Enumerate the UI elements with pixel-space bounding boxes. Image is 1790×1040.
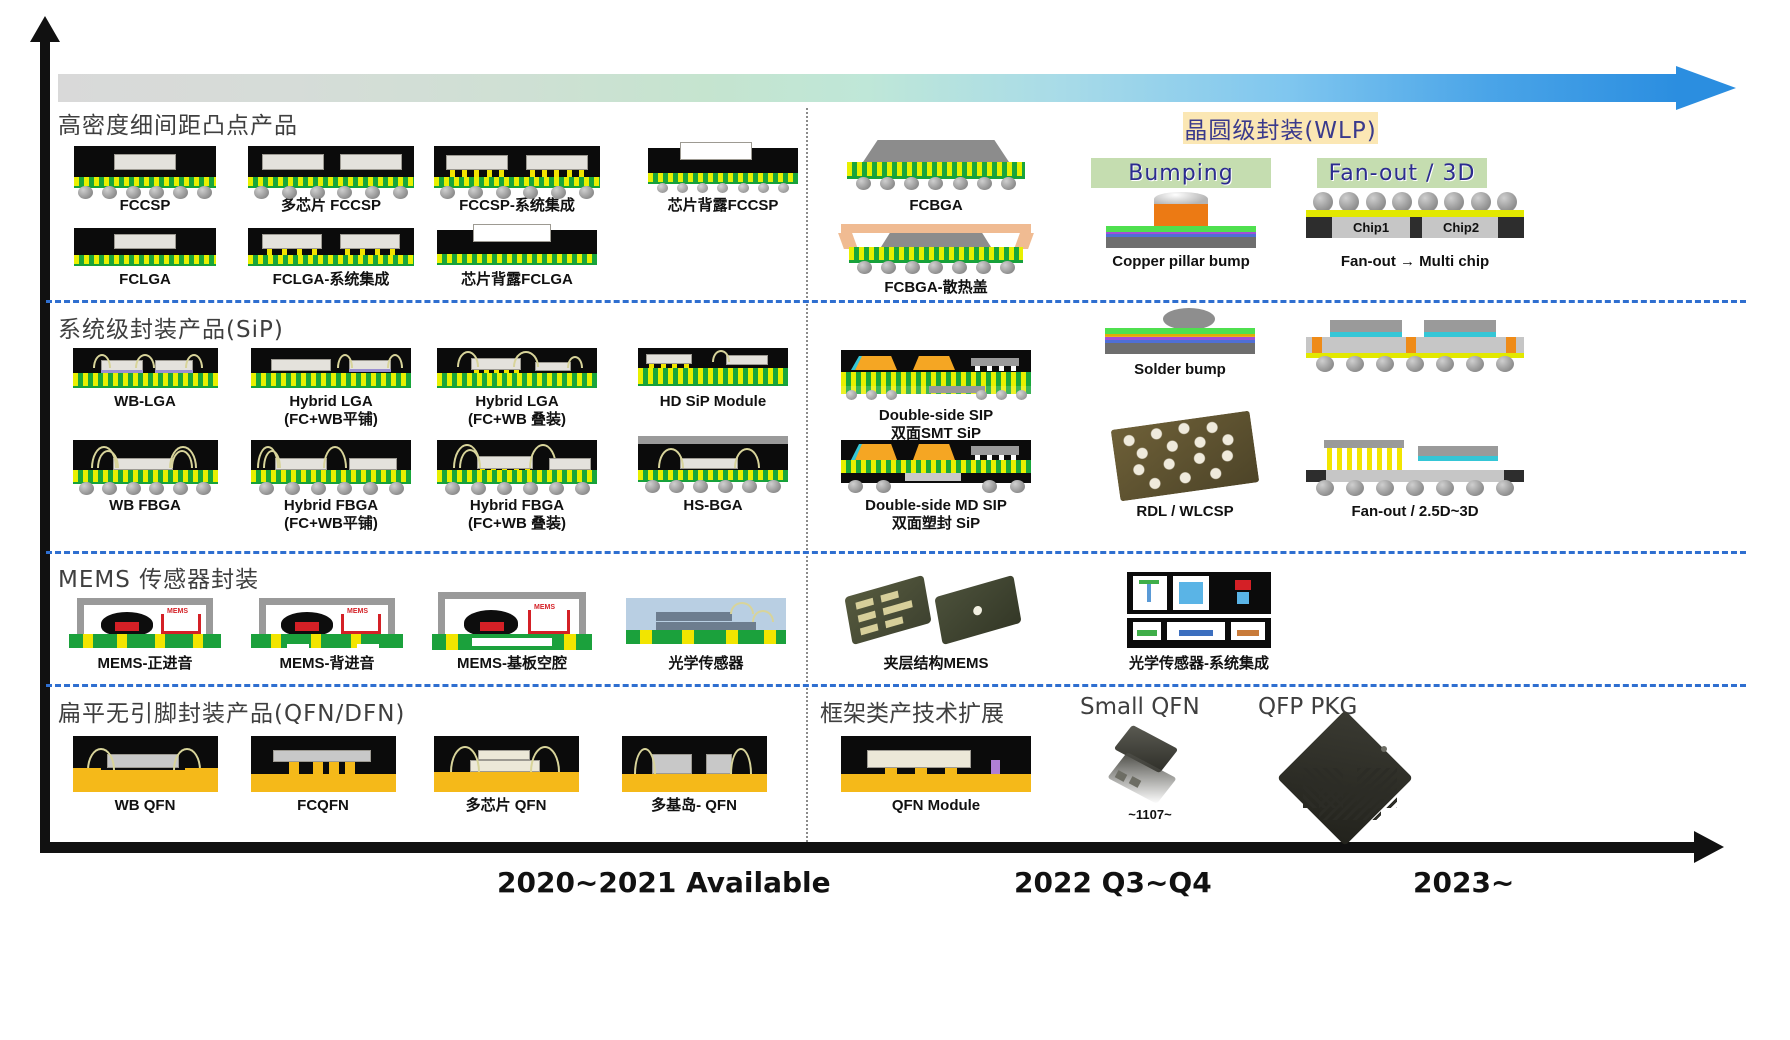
timeline-label-2020-2021: 2020~2021 Available xyxy=(497,866,831,899)
row-separator-1 xyxy=(46,300,1746,303)
item-label: 光学传感器 xyxy=(616,655,796,673)
item-label: FCCSP-系统集成 xyxy=(424,197,610,215)
item-label: WB FBGA xyxy=(60,497,230,515)
item-qfp-pkg xyxy=(1248,724,1448,825)
item-hs-bga: HS-BGA xyxy=(628,436,798,515)
timeline-label-2022: 2022 Q3~Q4 xyxy=(1014,866,1212,899)
item-label: 多芯片 QFN xyxy=(416,797,596,815)
item-optical-sensor-system-integration: 光学传感器-系统集成 xyxy=(1104,572,1294,673)
row-separator-3 xyxy=(46,684,1746,687)
heading-frame-tech: 框架类产技术扩展 xyxy=(820,694,1004,728)
section-title-high-density: 高密度细间距凸点产品 xyxy=(58,106,298,140)
item-label: HS-BGA xyxy=(628,497,798,515)
item-label: MEMS-基板空腔 xyxy=(422,655,602,673)
item-exposed-die-fclga: 芯片背露FCLGA xyxy=(424,224,610,289)
item-label: MEMS-背进音 xyxy=(240,655,414,673)
item-fclga-system-integration: FCLGA-系统集成 xyxy=(238,228,424,289)
phase-divider xyxy=(806,108,808,842)
right-arrow-icon xyxy=(1694,831,1724,863)
item-fanout-25d-3d-upper xyxy=(1300,320,1530,374)
item-fanout-multichip: Chip1 Chip2 Fan-out → Multi chip xyxy=(1300,192,1530,271)
item-label: Solder bump xyxy=(1090,361,1270,379)
chip2-label: Chip2 xyxy=(1426,220,1496,235)
chip1-label: Chip1 xyxy=(1336,220,1406,235)
item-label: FCCSP xyxy=(60,197,230,215)
item-solder-bump: Solder bump xyxy=(1090,308,1270,379)
item-label: 光学传感器-系统集成 xyxy=(1104,655,1294,673)
timeline-label-2023: 2023~ xyxy=(1413,866,1514,899)
item-label: Fan-out / 2.5D~3D xyxy=(1300,503,1530,521)
item-double-side-md-sip: Double-side MD SIP 双面塑封 SiP xyxy=(838,440,1034,533)
item-exposed-die-fccsp: 芯片背露FCCSP xyxy=(628,142,818,215)
item-fcbga-heat-spreader: FCBGA-散热盖 xyxy=(838,224,1034,297)
item-rdl-wlcsp: RDL / WLCSP xyxy=(1090,418,1280,521)
item-fclga: FCLGA xyxy=(60,228,230,289)
item-optical-sensor: 光学传感器 xyxy=(616,598,796,673)
item-fccsp: FCCSP xyxy=(60,146,230,215)
item-fccsp-system-integration: FCCSP-系统集成 xyxy=(424,146,610,215)
item-fcbga: FCBGA xyxy=(838,140,1034,215)
banner-bumping: Bumping xyxy=(1091,158,1271,188)
item-label: FCBGA-散热盖 xyxy=(838,279,1034,297)
heading-small-qfn: Small QFN xyxy=(1080,694,1200,720)
item-small-qfn: ~1107~ xyxy=(1080,732,1220,823)
item-label: MEMS-正进音 xyxy=(58,655,232,673)
item-label: 多基岛- QFN xyxy=(604,797,784,815)
section-title-qfn: 扁平无引脚封装产品(QFN/DFN) xyxy=(58,694,405,728)
item-label: 芯片背露FCCSP xyxy=(628,197,818,215)
item-label: WB QFN xyxy=(60,797,230,815)
mems-photo-top xyxy=(844,575,931,645)
item-hybrid-lga-stacked: Hybrid LGA (FC+WB 叠装) xyxy=(424,348,610,429)
item-label: Hybrid LGA (FC+WB 叠装) xyxy=(424,393,610,429)
item-sandwich-mems: 夹层结构MEMS xyxy=(838,578,1034,673)
row-separator-2 xyxy=(46,551,1746,554)
item-multichip-fccsp: 多芯片 FCCSP xyxy=(238,146,424,215)
item-label: Copper pillar bump xyxy=(1086,253,1276,271)
item-double-side-sip: Double-side SIP 双面SMT SiP xyxy=(838,350,1034,443)
item-label: 芯片背露FCLGA xyxy=(424,271,610,289)
banner-wlp: 晶圆级封装(WLP) xyxy=(1183,112,1378,144)
item-hybrid-fbga-planar: Hybrid FBGA (FC+WB平铺) xyxy=(238,440,424,533)
item-label: Hybrid LGA (FC+WB平铺) xyxy=(238,393,424,429)
section-title-sip: 系统级封装产品(SiP) xyxy=(58,310,284,344)
banner-fanout: Fan-out / 3D xyxy=(1317,158,1487,188)
item-multichip-qfn: 多芯片 QFN xyxy=(416,736,596,815)
item-mems-back-port: MEMS MEMS-背进音 xyxy=(240,598,414,673)
item-fanout-25d-3d: Fan-out / 2.5D~3D xyxy=(1300,440,1530,521)
roadmap-diagram: 高密度细间距凸点产品 FCCSP xyxy=(0,0,1790,1040)
item-hd-sip-module: HD SiP Module xyxy=(628,348,798,411)
bga-photo xyxy=(1111,411,1260,502)
item-label: HD SiP Module xyxy=(628,393,798,411)
item-label: 多芯片 FCCSP xyxy=(238,197,424,215)
item-label: FCLGA-系统集成 xyxy=(238,271,424,289)
mems-photo-bottom xyxy=(934,575,1021,645)
item-label: Fan-out → Multi chip xyxy=(1300,253,1530,271)
item-fcqfn: FCQFN xyxy=(238,736,408,815)
x-axis xyxy=(40,842,1700,853)
item-wb-fbga: WB FBGA xyxy=(60,440,230,515)
item-hybrid-fbga-stacked: Hybrid FBGA (FC+WB 叠装) xyxy=(424,440,610,533)
item-mems-front-port: MEMS MEMS-正进音 xyxy=(58,598,232,673)
item-label: FCBGA xyxy=(838,197,1034,215)
item-hybrid-lga-planar: Hybrid LGA (FC+WB平铺) xyxy=(238,348,424,429)
item-label: FCQFN xyxy=(238,797,408,815)
item-label: QFN Module xyxy=(838,797,1034,815)
item-label: Double-side MD SIP 双面塑封 SiP xyxy=(838,497,1034,533)
item-copper-pillar-bump: Copper pillar bump xyxy=(1086,192,1276,271)
item-multi-island-qfn: 多基岛- QFN xyxy=(604,736,784,815)
item-label: Double-side SIP 双面SMT SiP xyxy=(838,407,1034,443)
item-label: RDL / WLCSP xyxy=(1090,503,1280,521)
item-wb-lga: WB-LGA xyxy=(60,348,230,411)
item-label: 夹层结构MEMS xyxy=(838,655,1034,673)
y-axis xyxy=(40,38,50,850)
item-mems-substrate-cavity: MEMS MEMS-基板空腔 xyxy=(422,592,602,673)
item-label: WB-LGA xyxy=(60,393,230,411)
gradient-progress-arrow-icon xyxy=(58,70,1738,106)
item-wb-qfn: WB QFN xyxy=(60,736,230,815)
item-label: Hybrid FBGA (FC+WB平铺) xyxy=(238,497,424,533)
item-label: Hybrid FBGA (FC+WB 叠装) xyxy=(424,497,610,533)
item-label: ~1107~ xyxy=(1080,807,1220,823)
item-label: FCLGA xyxy=(60,271,230,289)
section-title-mems: MEMS 传感器封装 xyxy=(58,560,259,594)
item-qfn-module: QFN Module xyxy=(838,736,1034,815)
